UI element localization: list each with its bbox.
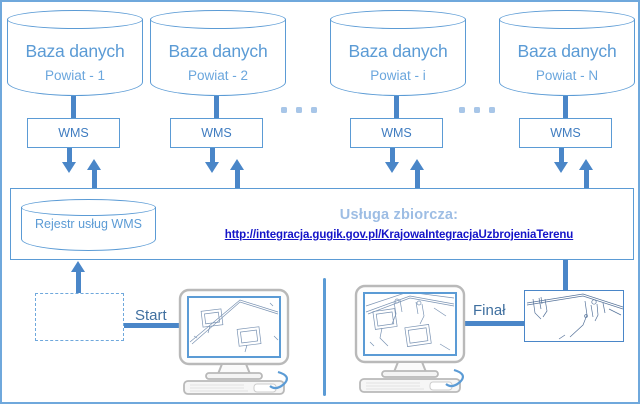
registry-label: Rejestr usług WMS xyxy=(21,217,156,231)
dot xyxy=(489,107,495,113)
connector-wms-up-1 xyxy=(92,170,97,190)
connector-wms-up-2 xyxy=(235,170,240,190)
arrow-up-3 xyxy=(410,159,424,170)
arrow-down-2 xyxy=(205,162,219,173)
service-url-link[interactable]: http://integracja.gugik.gov.pl/KrajowaIn… xyxy=(171,229,627,241)
ellipsis-dots-1 xyxy=(281,107,317,113)
cylinder-top xyxy=(330,10,466,29)
arrow-up-2 xyxy=(230,159,244,170)
wms-registry-cylinder: Rejestr usług WMS xyxy=(21,199,156,251)
wms-label: WMS xyxy=(201,126,232,140)
database-cylinder-4: Baza danych Powiat - N xyxy=(499,10,635,96)
wms-box-4: WMS xyxy=(519,118,612,148)
database-label: Baza danych xyxy=(7,41,143,62)
arrow-down-3 xyxy=(385,162,399,173)
cylinder-top xyxy=(7,10,143,29)
dot xyxy=(474,107,480,113)
connector-db-to-wms-4 xyxy=(563,96,568,118)
database-label: Baza danych xyxy=(499,41,635,62)
dot xyxy=(296,107,302,113)
database-sublabel: Powiat - 1 xyxy=(7,68,143,83)
computer-right xyxy=(350,284,470,396)
computer-right-drawing xyxy=(350,284,470,396)
start-label: Start xyxy=(135,307,167,324)
dot xyxy=(459,107,465,113)
connector-service-to-start xyxy=(76,272,81,294)
connector-db-to-wms-3 xyxy=(394,96,399,118)
cylinder-top xyxy=(499,10,635,29)
database-cylinder-2: Baza danych Powiat - 2 xyxy=(150,10,286,96)
arrow-up-1 xyxy=(87,159,101,170)
dot xyxy=(281,107,287,113)
arrow-down-1 xyxy=(62,162,76,173)
aggregate-service-panel: Rejestr usług WMS Usługa zbiorcza: http:… xyxy=(10,188,634,260)
database-cylinder-1: Baza danych Powiat - 1 xyxy=(7,10,143,96)
computer-left xyxy=(174,288,294,396)
final-label: Finał xyxy=(473,302,506,319)
database-cylinder-3: Baza danych Powiat - i xyxy=(330,10,466,96)
dashed-placeholder-box xyxy=(35,293,124,341)
computer-left-drawing xyxy=(174,288,294,396)
dot xyxy=(311,107,317,113)
wms-box-3: WMS xyxy=(350,118,443,148)
arrow-up-4 xyxy=(579,159,593,170)
wms-box-2: WMS xyxy=(170,118,263,148)
cylinder-top xyxy=(21,199,156,216)
wms-label: WMS xyxy=(381,126,412,140)
database-label: Baza danych xyxy=(330,41,466,62)
database-sublabel: Powiat - 2 xyxy=(150,68,286,83)
service-title: Usługa zbiorcza: xyxy=(171,207,627,223)
cylinder-top xyxy=(150,10,286,29)
connector-wms-up-4 xyxy=(584,170,589,190)
connector-wms-up-3 xyxy=(415,170,420,190)
wms-box-1: WMS xyxy=(27,118,120,148)
arrow-down-4 xyxy=(554,162,568,173)
connector-db-to-wms-1 xyxy=(71,96,76,118)
database-label: Baza danych xyxy=(150,41,286,62)
map-thumbnail xyxy=(524,290,624,342)
connector-service-to-final xyxy=(563,260,568,290)
map-thumbnail-drawing xyxy=(525,291,624,342)
database-sublabel: Powiat - N xyxy=(499,68,635,83)
ellipsis-dots-2 xyxy=(459,107,495,113)
diagram-canvas: Baza danych Powiat - 1 Baza danych Powia… xyxy=(0,0,640,404)
section-divider xyxy=(323,278,326,396)
arrow-up-start xyxy=(71,261,85,272)
connector-db-to-wms-2 xyxy=(214,96,219,118)
wms-label: WMS xyxy=(550,126,581,140)
database-sublabel: Powiat - i xyxy=(330,68,466,83)
wms-label: WMS xyxy=(58,126,89,140)
